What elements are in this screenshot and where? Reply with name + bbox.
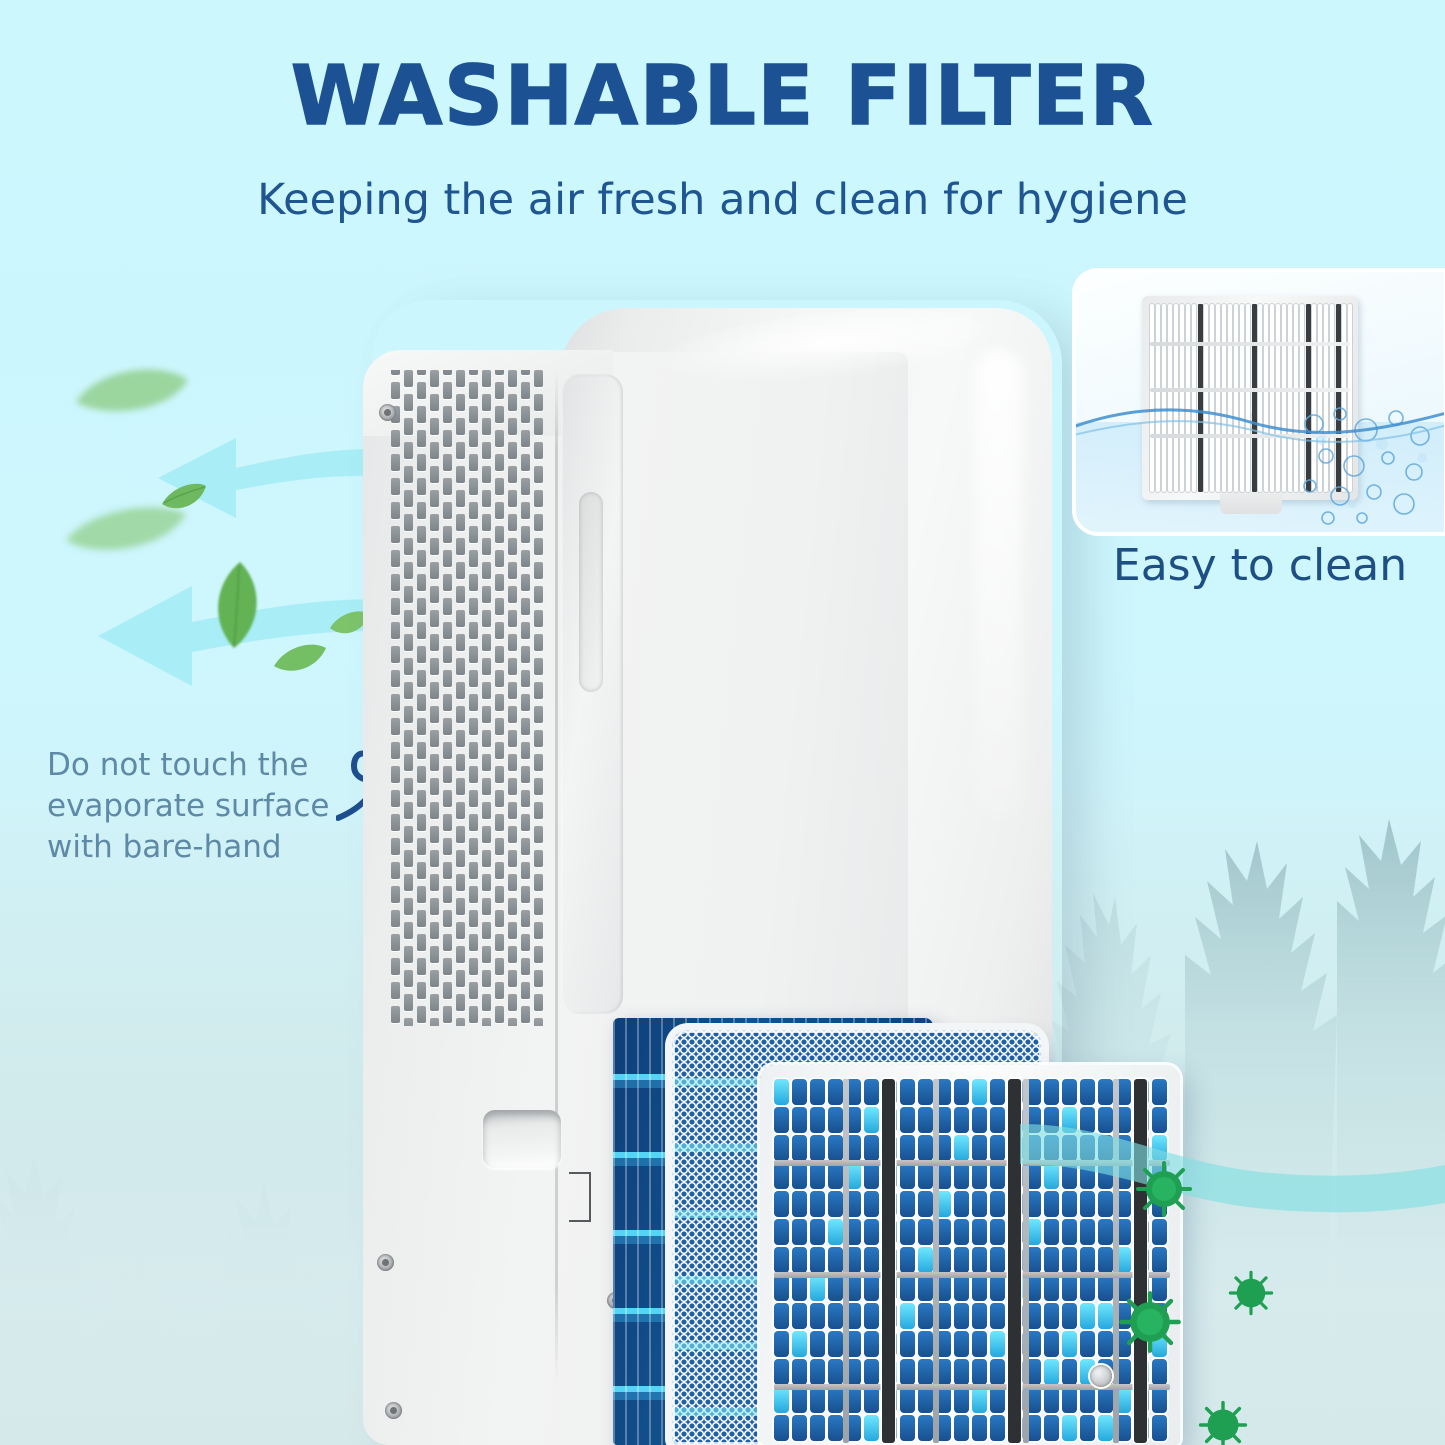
vent-slat	[417, 526, 426, 543]
vent-slat	[482, 538, 491, 555]
vent-slat	[482, 802, 491, 819]
vent-slat	[469, 766, 478, 783]
vent-slat	[391, 718, 400, 735]
vent-slat	[495, 910, 504, 927]
grid-filter-cell	[1062, 1387, 1077, 1413]
vent-slat	[404, 394, 413, 411]
vent-slat	[469, 478, 478, 495]
vent-slat	[534, 826, 543, 843]
grid-filter-cell	[810, 1415, 825, 1441]
vent-slat	[391, 1006, 400, 1023]
vent-slat	[482, 778, 491, 795]
vent-slat	[417, 430, 426, 447]
grid-filter-cell	[900, 1415, 915, 1441]
vent-slat	[391, 766, 400, 783]
vent-slat	[404, 514, 413, 531]
vent-slat	[534, 562, 543, 579]
page-subtitle: Keeping the air fresh and clean for hygi…	[0, 176, 1445, 225]
vent-slat	[521, 430, 530, 447]
vent-slat	[430, 682, 439, 699]
vent-slat	[521, 550, 530, 567]
vent-slat	[443, 598, 452, 615]
vent-slat	[495, 694, 504, 711]
grid-filter-cell	[918, 1247, 933, 1273]
vent-column	[391, 370, 400, 1026]
vent-slat	[521, 886, 530, 903]
grid-filter-cell	[954, 1387, 969, 1413]
grid-filter-cell	[954, 1359, 969, 1385]
grid-filter-cell	[1044, 1387, 1059, 1413]
grid-filter-cell	[900, 1079, 915, 1105]
grid-filter-cell	[864, 1079, 879, 1105]
grid-filter-cell	[828, 1331, 843, 1357]
grid-filter-cell	[900, 1163, 915, 1189]
vent-slat	[391, 910, 400, 927]
vent-slat	[521, 838, 530, 855]
vent-slat	[443, 814, 452, 831]
vent-slat	[495, 934, 504, 951]
vent-slat	[430, 970, 439, 987]
vent-slat	[469, 370, 478, 375]
vent-slat	[521, 478, 530, 495]
grid-filter-cell	[972, 1163, 987, 1189]
grid-filter-cell	[972, 1219, 987, 1245]
vent-slat	[508, 802, 517, 819]
vent-slat	[482, 634, 491, 651]
vent-slat	[404, 586, 413, 603]
vent-slat	[534, 874, 543, 891]
vent-slat	[482, 922, 491, 939]
panel-bracket	[569, 1172, 591, 1222]
vent-slat	[417, 766, 426, 783]
vent-slat	[521, 862, 530, 879]
vent-slat	[391, 886, 400, 903]
grid-filter-cell	[900, 1107, 915, 1133]
vent-slat	[469, 814, 478, 831]
vent-slat	[456, 658, 465, 675]
grid-filter-cell	[990, 1219, 1005, 1245]
vent-slat	[417, 406, 426, 423]
vent-slat	[443, 670, 452, 687]
grid-filter-cell	[864, 1331, 879, 1357]
vent-slat	[482, 514, 491, 531]
vent-slat	[521, 958, 530, 975]
grid-filter-cell	[1062, 1275, 1077, 1301]
grid-filter-cell	[954, 1415, 969, 1441]
water-line-icon	[1076, 376, 1444, 466]
vent-slat	[482, 490, 491, 507]
vent-slat	[404, 994, 413, 1011]
vent-slat	[508, 994, 517, 1011]
grid-filter-cell	[954, 1135, 969, 1161]
vent-slat	[443, 622, 452, 639]
vent-slat	[495, 838, 504, 855]
grid-filter-cell	[1044, 1303, 1059, 1329]
vent-slat	[430, 538, 439, 555]
vent-slat	[391, 370, 400, 375]
grid-filter-cell	[900, 1387, 915, 1413]
grid-filter-cell	[900, 1359, 915, 1385]
vent-slat	[430, 514, 439, 531]
vent-slat	[430, 610, 439, 627]
vent-slat	[443, 982, 452, 999]
grid-filter-cell	[918, 1135, 933, 1161]
vent-column	[482, 370, 491, 1026]
vent-slat	[482, 1018, 491, 1026]
vent-slat	[534, 514, 543, 531]
vent-slat	[534, 370, 543, 387]
vent-slat	[404, 562, 413, 579]
filter-notch	[1220, 492, 1282, 514]
grid-filter-cell	[1044, 1415, 1059, 1441]
grid-filter-cell	[918, 1191, 933, 1217]
grid-filter-cell	[864, 1359, 879, 1385]
vent-slat	[495, 670, 504, 687]
grid-filter-cell	[990, 1359, 1005, 1385]
vent-slat	[391, 790, 400, 807]
grid-filter-cell	[792, 1107, 807, 1133]
grid-filter-cell	[864, 1303, 879, 1329]
vent-slat	[534, 994, 543, 1011]
vent-slat	[521, 766, 530, 783]
vent-slat	[456, 562, 465, 579]
vent-slat	[391, 454, 400, 471]
vent-slat	[482, 826, 491, 843]
vent-slat	[469, 886, 478, 903]
vent-slat	[469, 406, 478, 423]
grid-filter-cell	[990, 1135, 1005, 1161]
vent-slat	[456, 898, 465, 915]
grid-filter-cell	[792, 1331, 807, 1357]
grid-filter-cell	[954, 1163, 969, 1189]
vent-slat	[417, 370, 426, 375]
vent-slat	[443, 502, 452, 519]
vent-slat	[482, 970, 491, 987]
vent-slat	[430, 706, 439, 723]
grid-filter-cell	[864, 1387, 879, 1413]
grid-filter-cell	[954, 1191, 969, 1217]
grid-filter-cell	[864, 1219, 879, 1245]
grid-filter-cell	[828, 1079, 843, 1105]
grid-filter-cell	[864, 1415, 879, 1441]
vent-slat	[508, 682, 517, 699]
vent-slat	[404, 802, 413, 819]
vent-slat	[495, 598, 504, 615]
grid-filter-cell	[1044, 1331, 1059, 1357]
vent-slat	[430, 874, 439, 891]
vent-slat	[469, 646, 478, 663]
grid-filter-cell	[1152, 1359, 1167, 1385]
vent-slat	[404, 466, 413, 483]
pollen-particle-icon	[1228, 1270, 1274, 1320]
grid-filter-cell	[774, 1191, 789, 1217]
vent-slat	[482, 562, 491, 579]
grid-filter-cell	[990, 1387, 1005, 1413]
vent-slat	[417, 862, 426, 879]
grid-filter-cell	[990, 1163, 1005, 1189]
grid-filter-cell	[918, 1079, 933, 1105]
vent-column	[417, 370, 426, 1026]
vent-column	[404, 370, 413, 1026]
handle-slot	[579, 492, 603, 692]
screw-icon	[377, 1254, 394, 1271]
screw-icon	[385, 1402, 402, 1419]
vent-slat	[534, 922, 543, 939]
vent-slat	[534, 730, 543, 747]
vent-slat	[534, 610, 543, 627]
vent-slat	[404, 706, 413, 723]
grid-filter-cell	[792, 1135, 807, 1161]
vent-slat	[443, 766, 452, 783]
vent-slat	[391, 550, 400, 567]
airflow-ribbon-icon	[1020, 1090, 1445, 1270]
vent-slat	[469, 1006, 478, 1023]
vent-slat	[443, 790, 452, 807]
vent-slat	[469, 838, 478, 855]
grid-filter-cell	[918, 1107, 933, 1133]
vent-slat	[482, 610, 491, 627]
vent-slat	[391, 646, 400, 663]
vent-slat	[495, 382, 504, 399]
vent-slat	[417, 646, 426, 663]
grid-filter-cell	[810, 1247, 825, 1273]
vent-slat	[521, 622, 530, 639]
grid-filter-cell	[954, 1331, 969, 1357]
grid-filter-dark-rib	[882, 1079, 895, 1443]
vent-slat	[495, 1006, 504, 1023]
page-title: WASHABLE FILTER	[0, 56, 1445, 138]
vent-slat	[508, 706, 517, 723]
vent-column	[508, 370, 517, 1026]
grid-filter-cell	[900, 1219, 915, 1245]
vent-slat	[417, 742, 426, 759]
vent-slat	[404, 898, 413, 915]
grid-filter-cell	[972, 1135, 987, 1161]
grid-filter-cell	[972, 1247, 987, 1273]
grid-filter-cell	[774, 1079, 789, 1105]
grid-filter-cell	[972, 1415, 987, 1441]
vent-slat	[417, 670, 426, 687]
vent-slat	[417, 1006, 426, 1023]
vent-slat	[521, 742, 530, 759]
grid-filter-cell	[972, 1107, 987, 1133]
vent-slat	[443, 886, 452, 903]
vent-slat	[508, 442, 517, 459]
vent-slat	[430, 394, 439, 411]
grid-filter-cell	[972, 1303, 987, 1329]
grid-filter-cell	[954, 1247, 969, 1273]
vent-slat	[456, 370, 465, 387]
grid-filter-cell	[792, 1163, 807, 1189]
vent-slat	[534, 538, 543, 555]
vent-slat	[456, 874, 465, 891]
grid-filter-cell	[990, 1079, 1005, 1105]
vent-slat	[456, 1018, 465, 1026]
vent-slat	[443, 694, 452, 711]
grid-filter-cell	[864, 1163, 879, 1189]
vent-slat	[534, 466, 543, 483]
warning-line-3: with bare-hand	[47, 827, 377, 868]
vent-slat	[482, 394, 491, 411]
vent-slat	[534, 682, 543, 699]
grid-filter-cell	[990, 1247, 1005, 1273]
grid-filter-cell	[990, 1303, 1005, 1329]
screw-icon	[1090, 1365, 1112, 1387]
grid-filter-cell	[792, 1387, 807, 1413]
vent-slat	[391, 430, 400, 447]
vent-slat	[534, 970, 543, 987]
vent-slat	[430, 442, 439, 459]
grid-filter-cell	[792, 1415, 807, 1441]
grid-filter-cell	[864, 1275, 879, 1301]
pollen-particle-icon	[1118, 1290, 1182, 1358]
vent-column	[534, 370, 543, 1026]
vent-slat	[456, 634, 465, 651]
easy-to-clean-card	[1076, 272, 1444, 532]
vent-slat	[404, 826, 413, 843]
grid-filter-cell	[954, 1079, 969, 1105]
vent-slat	[391, 742, 400, 759]
grid-filter-cell	[810, 1275, 825, 1301]
grid-filter-cell	[990, 1191, 1005, 1217]
vent-slat	[456, 778, 465, 795]
vent-slat	[469, 670, 478, 687]
vent-slat	[430, 922, 439, 939]
grid-filter-cell	[864, 1191, 879, 1217]
vent-slat	[495, 574, 504, 591]
grid-filter-cell	[918, 1275, 933, 1301]
vent-slat	[456, 538, 465, 555]
vent-slat	[495, 454, 504, 471]
vent-slat	[495, 958, 504, 975]
vent-slat	[443, 478, 452, 495]
vent-slat	[521, 646, 530, 663]
vent-slat	[521, 982, 530, 999]
grid-filter-cell	[954, 1303, 969, 1329]
vent-slat	[508, 730, 517, 747]
grid-filter-cell	[1080, 1415, 1095, 1441]
grid-filter-cell	[990, 1331, 1005, 1357]
vent-slat	[482, 898, 491, 915]
vent-slat	[417, 454, 426, 471]
vent-slat	[430, 490, 439, 507]
recessed-grip-handle-icon	[483, 1110, 561, 1168]
vent-slat	[443, 430, 452, 447]
vent-slat	[534, 706, 543, 723]
vent-slat	[456, 418, 465, 435]
vent-slat	[391, 574, 400, 591]
vent-slat	[417, 982, 426, 999]
vent-slat	[443, 454, 452, 471]
grid-filter-cell	[918, 1387, 933, 1413]
vent-slat	[417, 478, 426, 495]
vent-slat	[469, 790, 478, 807]
vent-slat	[404, 658, 413, 675]
vent-slat	[508, 370, 517, 387]
vent-slat	[404, 850, 413, 867]
vent-column	[443, 370, 452, 1026]
vent-slat	[391, 502, 400, 519]
vent-slat	[391, 694, 400, 711]
grid-filter-cell	[954, 1219, 969, 1245]
vent-slat	[456, 610, 465, 627]
vent-slat	[521, 910, 530, 927]
vent-slat	[430, 730, 439, 747]
vent-slat	[469, 910, 478, 927]
vent-slat	[417, 718, 426, 735]
vent-slat	[456, 490, 465, 507]
grid-filter-cell	[972, 1387, 987, 1413]
vent-slat	[482, 850, 491, 867]
grid-filter-cell	[810, 1163, 825, 1189]
vent-slat	[404, 946, 413, 963]
vent-slat	[482, 586, 491, 603]
vent-slat	[430, 586, 439, 603]
vent-slat	[404, 754, 413, 771]
grid-filter-cell	[972, 1331, 987, 1357]
vent-slat	[469, 430, 478, 447]
grid-filter-cell	[918, 1415, 933, 1441]
vent-slat	[391, 526, 400, 543]
leaf-icon	[62, 500, 190, 558]
grid-filter-cell	[810, 1359, 825, 1385]
vent-slat	[521, 694, 530, 711]
vent-slat	[456, 994, 465, 1011]
grid-filter-cell	[810, 1191, 825, 1217]
grid-filter-cell	[810, 1079, 825, 1105]
easy-to-clean-caption: Easy to clean	[1076, 540, 1444, 591]
grid-filter-cell	[900, 1247, 915, 1273]
grid-filter-cell	[900, 1275, 915, 1301]
vent-slat	[482, 994, 491, 1011]
grid-filter-cell	[1062, 1415, 1077, 1441]
vent-slat	[469, 550, 478, 567]
vent-slat	[430, 946, 439, 963]
grid-filter-cell	[810, 1107, 825, 1133]
warning-line-2: evaporate surface	[47, 786, 377, 827]
pollen-particle-icon	[1135, 1160, 1193, 1222]
grid-filter-cell	[774, 1331, 789, 1357]
vent-slat	[534, 658, 543, 675]
grid-filter-cell	[972, 1359, 987, 1385]
grid-filter-cell	[1044, 1275, 1059, 1301]
vent-slat	[443, 958, 452, 975]
vent-slat	[391, 670, 400, 687]
vent-slat	[521, 934, 530, 951]
grid-filter-cell	[792, 1247, 807, 1273]
vent-slat	[417, 958, 426, 975]
vent-slat	[521, 382, 530, 399]
leaf-icon	[272, 640, 328, 676]
vent-slat	[391, 622, 400, 639]
vent-slat	[404, 490, 413, 507]
vent-slat	[456, 442, 465, 459]
vent-slat	[508, 586, 517, 603]
grid-filter-cell	[810, 1331, 825, 1357]
grid-filter-cell	[774, 1107, 789, 1133]
vent-slat	[417, 550, 426, 567]
warning-note: Do not touch the evaporate surface with …	[47, 745, 377, 868]
vent-slat	[443, 406, 452, 423]
vent-slat	[482, 466, 491, 483]
vent-slat	[534, 586, 543, 603]
vent-slat	[508, 1018, 517, 1026]
vent-slat	[443, 934, 452, 951]
vent-column	[456, 370, 465, 1026]
grid-filter-cell	[918, 1303, 933, 1329]
grid-filter-cell	[810, 1219, 825, 1245]
vent-slat	[508, 634, 517, 651]
